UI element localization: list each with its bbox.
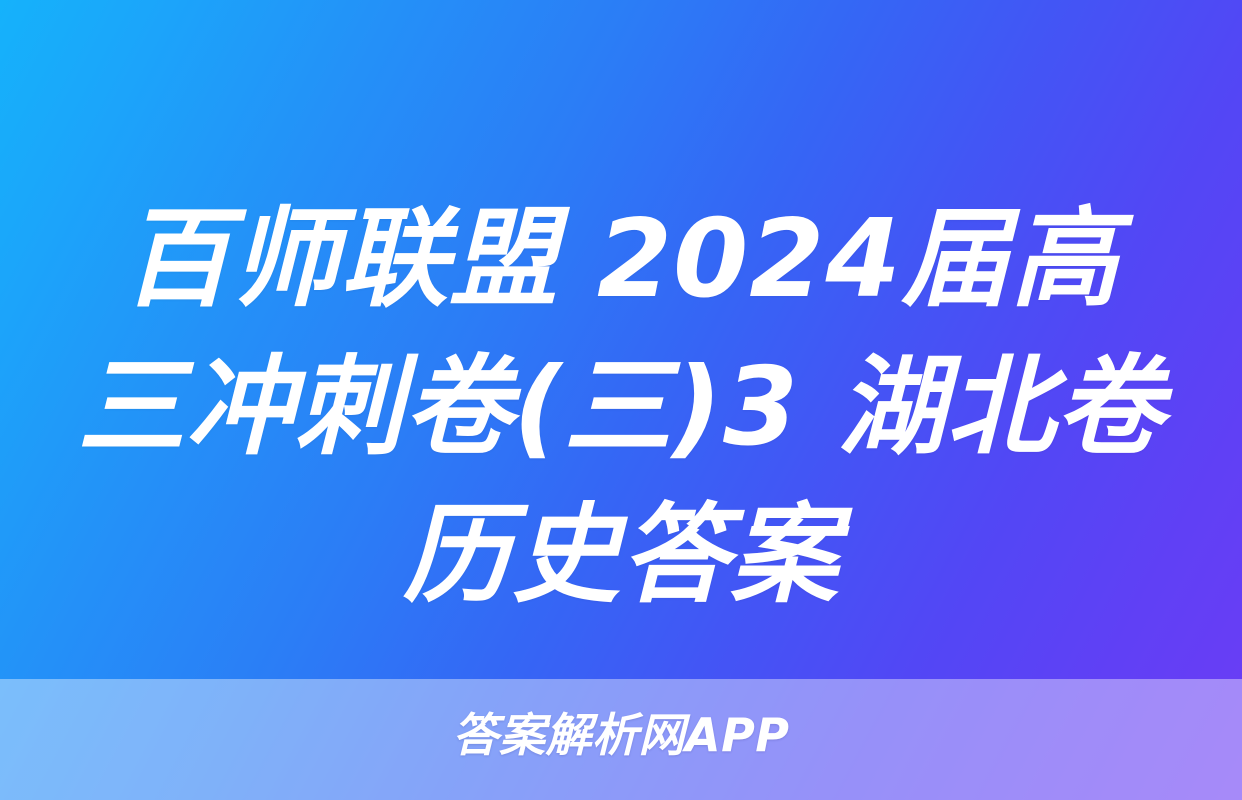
page-title: 百师联盟 2024届高三冲刺卷(三)3 湖北卷历史答案	[0, 186, 1242, 630]
app-watermark: 答案解析网APP	[0, 706, 1242, 764]
poster-canvas: 百师联盟 2024届高三冲刺卷(三)3 湖北卷历史答案 答案解析网APP	[0, 0, 1242, 800]
